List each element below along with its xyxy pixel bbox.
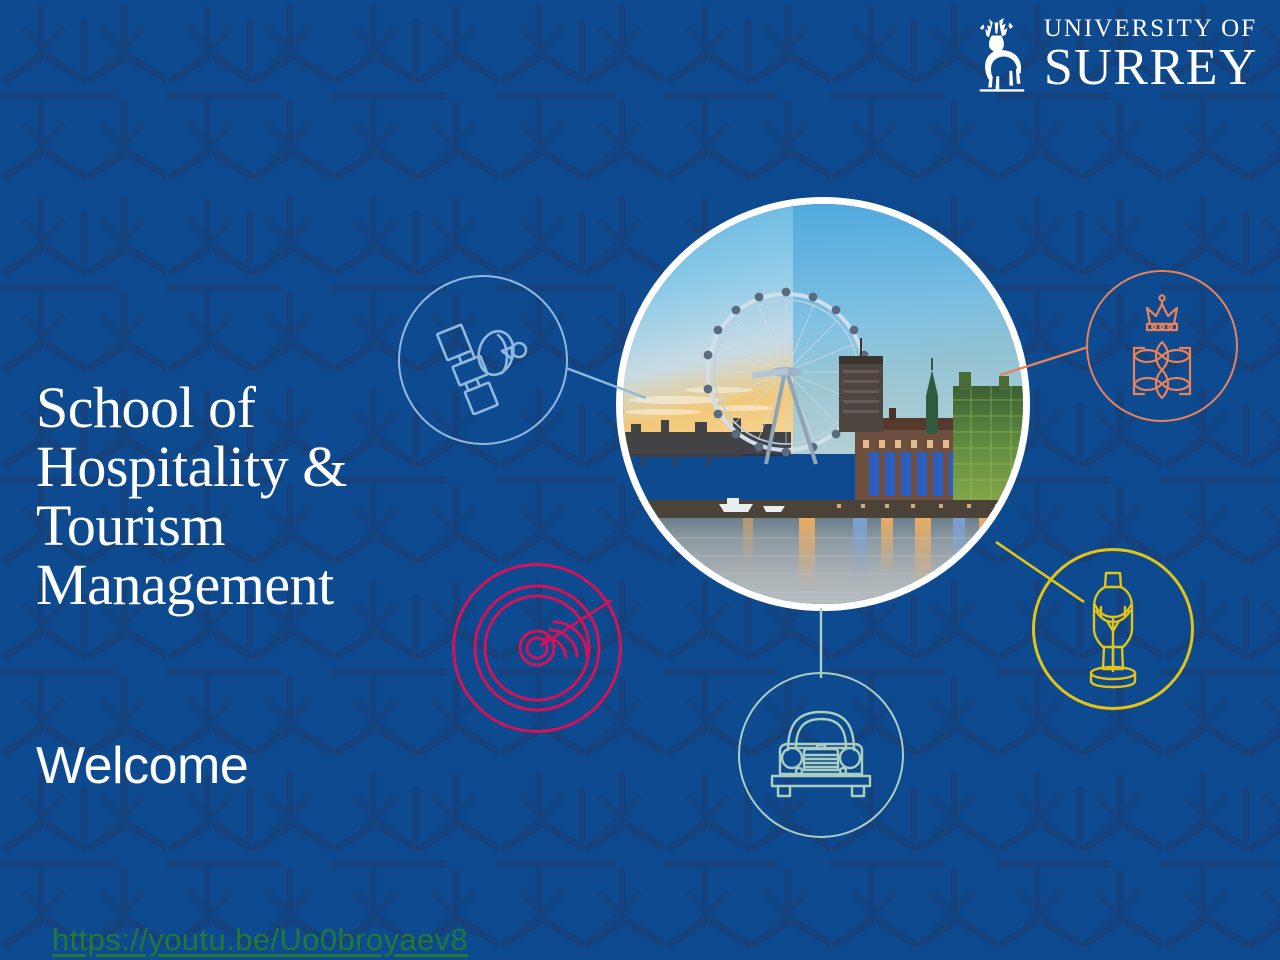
mini-car-icon-circle[interactable] (738, 672, 904, 838)
car-icon (758, 700, 884, 810)
logo-line-surrey: SURREY (1044, 42, 1258, 94)
subtitle-welcome: Welcome (36, 740, 248, 792)
crown-ribbon-icon (1110, 292, 1214, 400)
oscar-statuette-icon (1071, 567, 1155, 691)
headline-text: School of Hospitality & Tourism Manageme… (36, 378, 466, 615)
presentation-slide: School of Hospitality & Tourism Manageme… (0, 0, 1280, 960)
london-eye-thames-photo (616, 197, 1030, 611)
vinyl-record-icon (472, 583, 602, 713)
logo-line-university-of: UNIVERSITY OF (1044, 16, 1257, 41)
university-of-surrey-logo: UNIVERSITY OF SURREY (974, 16, 1258, 94)
vinyl-record-icon-circle[interactable] (452, 563, 622, 733)
stag-icon (974, 17, 1030, 93)
oscar-statuette-icon-circle[interactable] (1032, 548, 1194, 710)
page-title: School of Hospitality & Tourism Manageme… (36, 378, 466, 615)
queens-award-crown-icon-circle[interactable] (1086, 270, 1238, 422)
youtube-link[interactable]: https://youtu.be/Uo0broyaev8 (52, 922, 468, 958)
